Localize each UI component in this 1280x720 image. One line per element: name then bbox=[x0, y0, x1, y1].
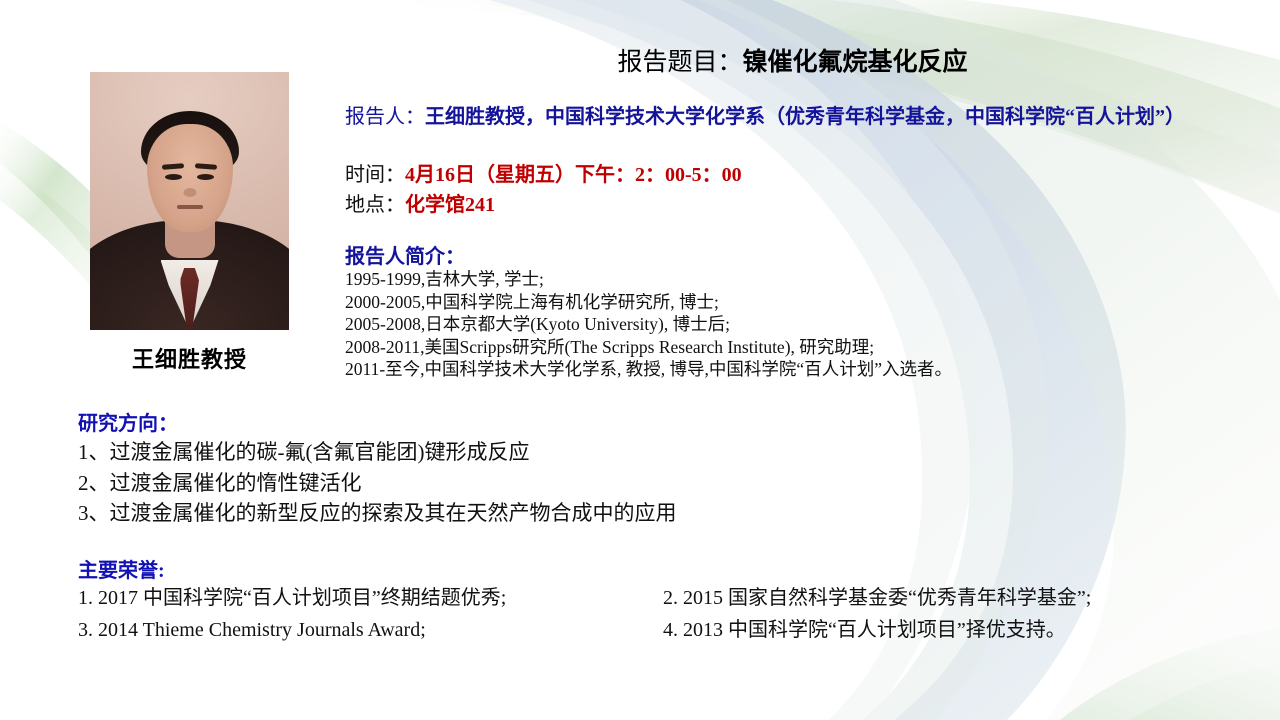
talk-title-text: 镍催化氟烷基化反应 bbox=[743, 49, 968, 76]
portrait-eye-right bbox=[197, 174, 214, 180]
research-row: 2、过渡金属催化的惰性键活化 bbox=[78, 468, 1078, 499]
honors-row: 3. 2014 Thieme Chemistry Journals Award;… bbox=[78, 614, 1228, 646]
time-line: 时间：4月16日（星期五）下午：2：00-5：00 bbox=[345, 160, 742, 190]
portrait-face bbox=[147, 124, 233, 232]
speaker-name-caption: 王细胜教授 bbox=[90, 342, 289, 374]
speaker-value: 王细胜教授，中国科学技术大学化学系（优秀青年科学基金，中国科学院“百人计划”） bbox=[425, 106, 1185, 128]
research-heading: 研究方向： bbox=[78, 407, 178, 436]
place-line: 地点：化学馆241 bbox=[345, 190, 495, 220]
speaker-portrait-image bbox=[90, 72, 289, 330]
honor-item: 1. 2017 中国科学院“百人计划项目”终期结题优秀; bbox=[78, 582, 663, 614]
bio-row: 2011-至今,中国科学技术大学化学系, 教授, 博导,中国科学院“百人计划”入… bbox=[345, 358, 1245, 381]
speaker-line: 报告人：王细胜教授，中国科学技术大学化学系（优秀青年科学基金，中国科学院“百人计… bbox=[345, 103, 1235, 132]
portrait-eyebrow-left bbox=[161, 163, 183, 170]
time-value: 4月16日（星期五）下午：2：00-5：00 bbox=[405, 164, 742, 186]
research-row: 3、过渡金属催化的新型反应的探索及其在天然产物合成中的应用 bbox=[78, 498, 1078, 529]
honor-item: 3. 2014 Thieme Chemistry Journals Award; bbox=[78, 614, 663, 646]
bio-row: 2000-2005,中国科学院上海有机化学研究所, 博士; bbox=[345, 291, 1245, 314]
honor-item: 2. 2015 国家自然科学基金委“优秀青年科学基金”; bbox=[663, 582, 1228, 614]
portrait-mouth bbox=[177, 205, 203, 209]
speaker-label: 报告人： bbox=[345, 106, 425, 128]
bio-heading: 报告人简介： bbox=[345, 240, 465, 269]
honors-list: 1. 2017 中国科学院“百人计划项目”终期结题优秀; 2. 2015 国家自… bbox=[78, 582, 1228, 646]
honors-row: 1. 2017 中国科学院“百人计划项目”终期结题优秀; 2. 2015 国家自… bbox=[78, 582, 1228, 614]
talk-title-label: 报告题目： bbox=[617, 49, 742, 76]
portrait-eye-left bbox=[165, 174, 182, 180]
bio-row: 1995-1999,吉林大学, 学士; bbox=[345, 268, 1245, 291]
honor-item: 4. 2013 中国科学院“百人计划项目”择优支持。 bbox=[663, 614, 1228, 646]
bio-list: 1995-1999,吉林大学, 学士; 2000-2005,中国科学院上海有机化… bbox=[345, 268, 1245, 381]
place-value: 化学馆241 bbox=[405, 194, 495, 216]
presentation-slide: 王细胜教授 报告题目：镍催化氟烷基化反应 报告人：王细胜教授，中国科学技术大学化… bbox=[0, 0, 1280, 720]
bio-row: 2008-2011,美国Scripps研究所(The Scripps Resea… bbox=[345, 336, 1245, 359]
research-row: 1、过渡金属催化的碳-氟(含氟官能团)键形成反应 bbox=[78, 437, 1078, 468]
speaker-photo-block: 王细胜教授 bbox=[90, 72, 289, 374]
talk-title: 报告题目：镍催化氟烷基化反应 bbox=[345, 42, 1240, 78]
time-label: 时间： bbox=[345, 164, 405, 186]
portrait-eyebrow-right bbox=[195, 163, 217, 170]
place-label: 地点： bbox=[345, 194, 405, 216]
portrait-nose bbox=[183, 188, 196, 197]
honors-heading: 主要荣誉: bbox=[78, 554, 165, 583]
bio-row: 2005-2008,日本京都大学(Kyoto University), 博士后; bbox=[345, 313, 1245, 336]
research-list: 1、过渡金属催化的碳-氟(含氟官能团)键形成反应 2、过渡金属催化的惰性键活化 … bbox=[78, 437, 1078, 529]
